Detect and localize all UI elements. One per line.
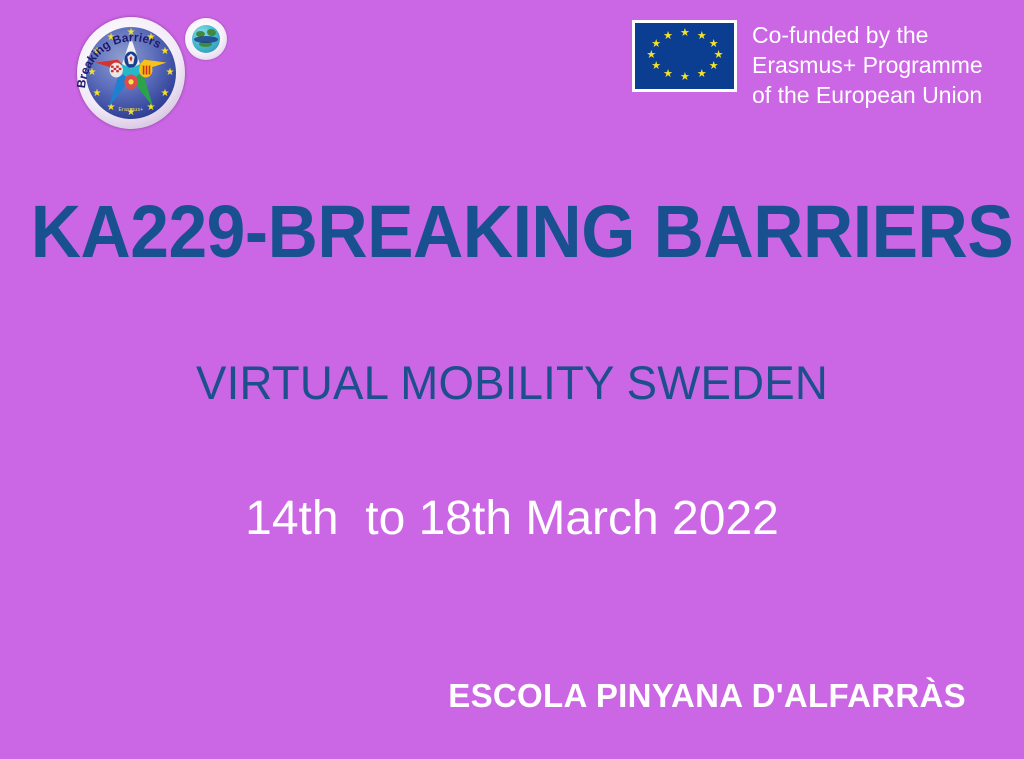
eu-flag-star: ★ xyxy=(709,62,718,71)
eu-flag-star: ★ xyxy=(697,32,706,41)
eu-flag-star: ★ xyxy=(651,62,660,71)
eu-flag-star: ★ xyxy=(697,70,706,79)
globe-icon xyxy=(185,18,227,60)
eu-flag-star: ★ xyxy=(663,70,672,79)
eu-funding-line-1: Co-funded by the xyxy=(752,20,983,50)
slide-header: ★ ★ ★ ★ ★ ★ ★ ★ ★ ★ ★ ★ xyxy=(0,0,1024,140)
breaking-barriers-badge-icon: ★ ★ ★ ★ ★ ★ ★ ★ ★ ★ ★ ★ xyxy=(77,17,185,129)
slide-school-name: ESCOLA PINYANA D'ALFARRÀS xyxy=(0,676,1024,716)
eu-flag-star: ★ xyxy=(714,51,723,60)
eu-funding-block: ★ ★ ★ ★ ★ ★ ★ ★ ★ ★ ★ ★ Co-funded by the… xyxy=(632,20,983,110)
badge-multicolor-star-icon xyxy=(94,37,168,109)
page-title: KA229-BREAKING BARRIERS xyxy=(31,191,994,273)
presentation-slide: ★ ★ ★ ★ ★ ★ ★ ★ ★ ★ ★ ★ xyxy=(0,0,1024,759)
slide-subtitle: VIRTUAL MOBILITY SWEDEN xyxy=(15,355,1008,411)
slide-date-range: 14th to 18th March 2022 xyxy=(0,490,1024,548)
globe-earth xyxy=(192,25,220,53)
eu-funding-text: Co-funded by the Erasmus+ Programme of t… xyxy=(752,20,983,110)
eu-flag-star: ★ xyxy=(680,29,689,38)
eu-flag-icon: ★ ★ ★ ★ ★ ★ ★ ★ ★ ★ ★ ★ xyxy=(632,20,737,92)
badge-ring-star: ★ xyxy=(127,28,136,37)
eu-funding-line-3: of the European Union xyxy=(752,80,983,110)
eu-flag-star: ★ xyxy=(651,40,660,49)
badge-footer-text: Erasmus+ xyxy=(77,107,185,113)
eu-flag-star: ★ xyxy=(680,73,689,82)
eu-flag-field: ★ ★ ★ ★ ★ ★ ★ ★ ★ ★ ★ ★ xyxy=(635,23,734,89)
globe-swoosh xyxy=(194,36,218,43)
eu-flag-star: ★ xyxy=(646,51,655,60)
eu-funding-line-2: Erasmus+ Programme xyxy=(752,50,983,80)
eu-flag-star: ★ xyxy=(663,32,672,41)
